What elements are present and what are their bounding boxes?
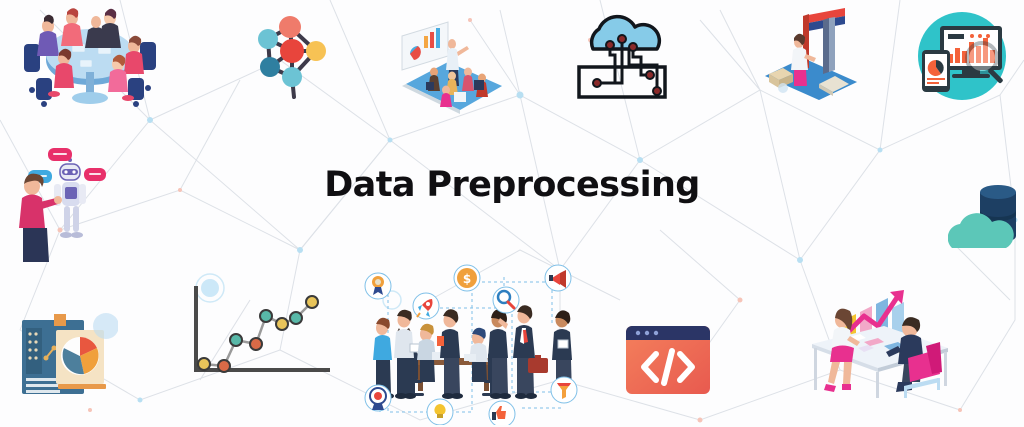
illustration-network-graph [246,5,350,101]
illustration-code-window [620,320,716,400]
data-preprocessing-banner: $ [0,0,1024,427]
illustration-team-meeting [10,2,170,112]
illustration-presentation-training [390,18,516,118]
illustration-kiosk-person [757,2,867,102]
illustration-business-team-icons: $ [352,262,598,425]
illustration-line-chart [178,278,334,384]
illustration-cloud-circuit [563,5,681,103]
illustration-data-analytics [908,6,1016,106]
svg-text:$: $ [463,272,471,286]
illustration-report-charts [14,306,118,402]
page-title: Data Preprocessing [0,163,1024,207]
illustration-desk-growth-chart [798,286,966,406]
